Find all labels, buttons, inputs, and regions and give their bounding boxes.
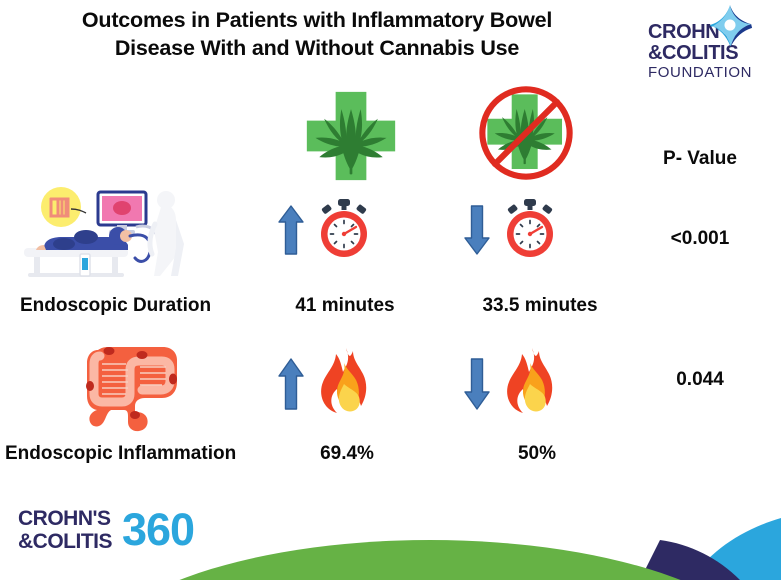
footer-logo-line-2: &COLITIS <box>18 531 112 552</box>
row-1-with-cannabis-value: 41 minutes <box>265 295 425 317</box>
cannabis-cross-prohibited-icon <box>478 85 574 181</box>
flame-icon <box>499 346 561 416</box>
crohns-colitis-360-logo: CROHN'S &COLITIS 360 <box>18 504 318 566</box>
logo-text-line-3: FOUNDATION <box>648 65 768 80</box>
crohns-colitis-foundation-logo: CROHN'S &COLITIS FOUNDATION <box>648 22 768 84</box>
row-2-without-cannabis-value: 50% <box>462 443 612 465</box>
endoscopy-procedure-icon <box>14 182 190 278</box>
pvalue-column-header: P- Value <box>620 148 780 170</box>
footer-logo-line-1: CROHN'S <box>18 508 112 529</box>
flame-icon <box>313 346 375 416</box>
row-label-endoscopic-inflammation: Endoscopic Inflammation <box>5 443 236 465</box>
trend-up-arrow-icon <box>278 358 304 410</box>
title-line-2: Disease With and Without Cannabis Use <box>22 34 612 62</box>
footer-logo-wordmark: CROHN'S &COLITIS <box>18 508 112 553</box>
trend-down-arrow-icon <box>464 205 490 255</box>
page-title: Outcomes in Patients with Inflammatory B… <box>22 6 612 63</box>
row-1-pvalue: <0.001 <box>620 228 780 250</box>
title-line-1: Outcomes in Patients with Inflammatory B… <box>82 8 552 32</box>
stopwatch-icon <box>499 198 561 260</box>
infographic-canvas: Outcomes in Patients with Inflammatory B… <box>0 0 781 580</box>
trend-up-arrow-icon <box>278 205 304 255</box>
cannabis-cross-icon <box>303 88 399 184</box>
row-1-without-cannabis-value: 33.5 minutes <box>450 295 630 317</box>
four-point-star-icon <box>707 3 753 49</box>
row-label-endoscopic-duration: Endoscopic Duration <box>20 295 211 317</box>
row-2-with-cannabis-value: 69.4% <box>272 443 422 465</box>
footer-logo-number: 360 <box>122 504 194 556</box>
stopwatch-icon <box>313 198 375 260</box>
trend-down-arrow-icon <box>464 358 490 410</box>
inflamed-intestine-icon <box>78 334 188 434</box>
row-2-pvalue: 0.044 <box>620 369 780 391</box>
